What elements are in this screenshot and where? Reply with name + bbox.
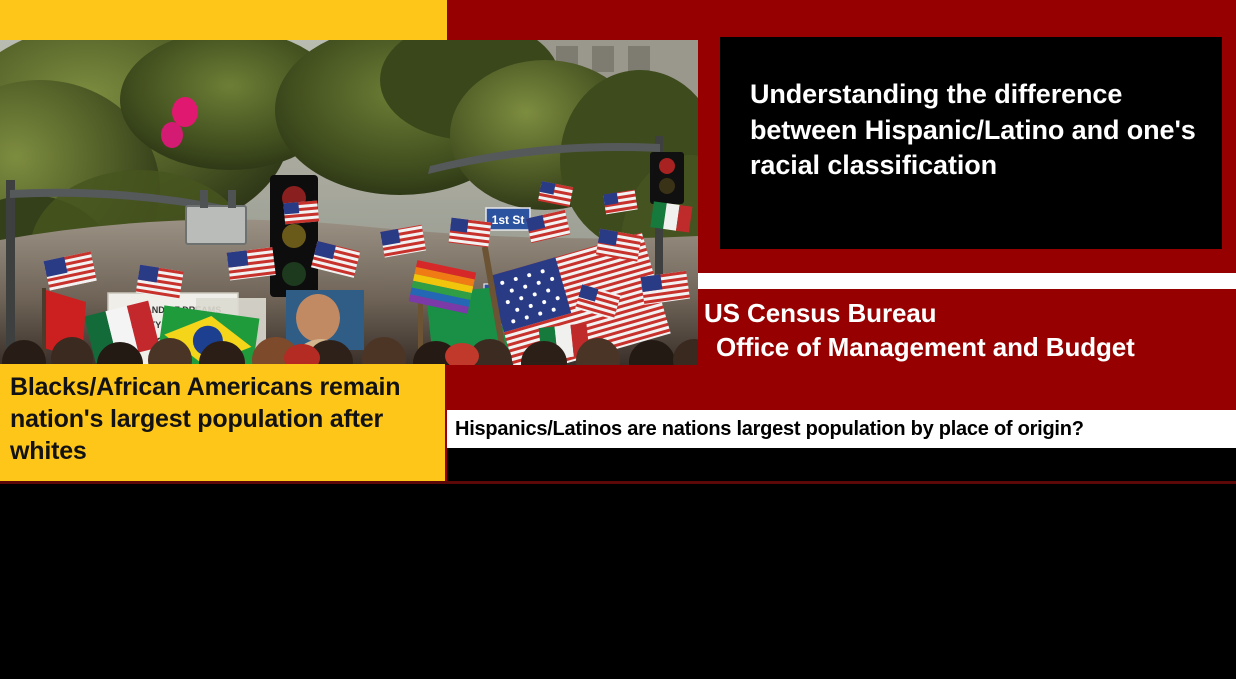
yellow-top-strip (0, 0, 447, 42)
white-divider-strip (698, 273, 1236, 289)
yellow-callout-text: Blacks/African Americans remain nation's… (10, 372, 439, 467)
agency-name-line: US Census Bureau (704, 297, 1236, 331)
bottom-black-panel (0, 484, 1236, 679)
presentation-title-box: Understanding the difference between His… (720, 37, 1222, 249)
yellow-callout-box: Blacks/African Americans remain nation's… (0, 364, 445, 483)
question-strip: Hispanics/Latinos are nations largest po… (447, 410, 1236, 448)
agency-office-line: Office of Management and Budget (704, 331, 1236, 365)
photo-artwork: 1st St 2nd St US LAND OF DREAMS LIBERTY … (0, 40, 698, 365)
question-strip-text: Hispanics/Latinos are nations largest po… (455, 418, 1084, 441)
agency-banner: US Census Bureau Office of Management an… (698, 297, 1236, 367)
slide-canvas: 1st St 2nd St US LAND OF DREAMS LIBERTY … (0, 0, 1236, 679)
question-underline-black-bar (447, 448, 1236, 481)
presentation-title-text: Understanding the difference between His… (750, 77, 1196, 184)
protest-crowd-photo: 1st St 2nd St US LAND OF DREAMS LIBERTY … (0, 40, 698, 365)
svg-text:1st St: 1st St (492, 213, 525, 227)
